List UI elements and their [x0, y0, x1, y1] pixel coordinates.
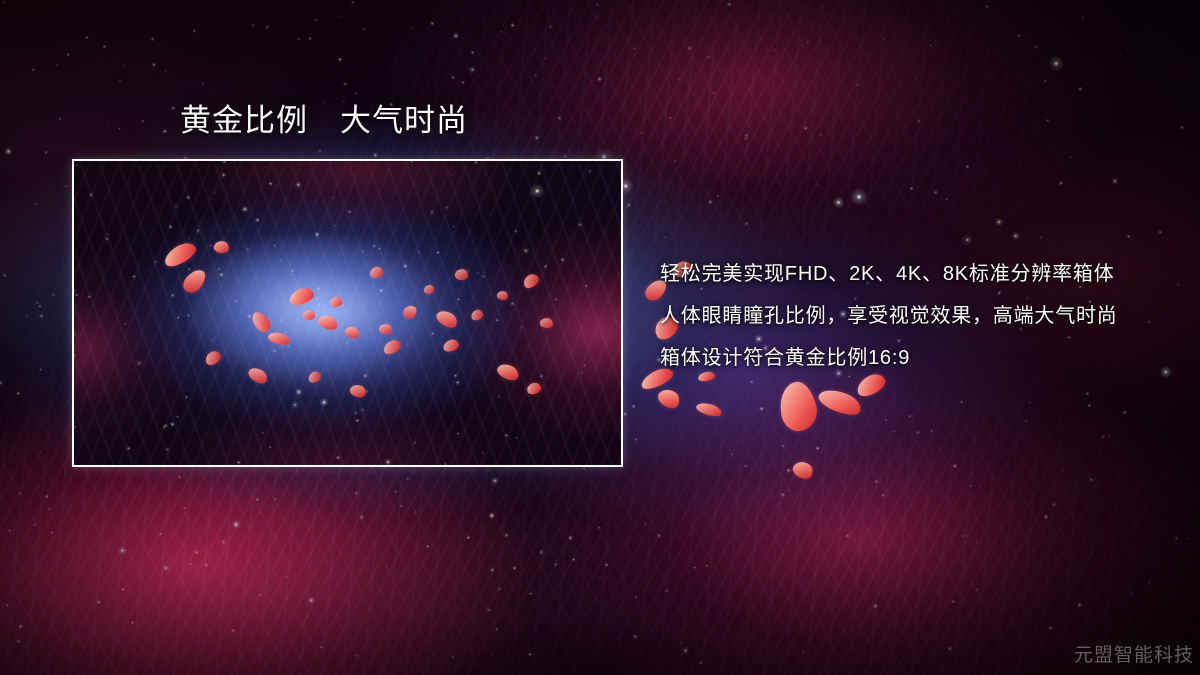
description-text: 轻松完美实现FHD、2K、4K、8K标准分辨率箱体 人体眼睛瞳孔比例，享受视觉效… [660, 258, 1160, 384]
description-line-3: 箱体设计符合黄金比例16:9 [660, 342, 1160, 384]
petal [655, 385, 683, 411]
display-starfield [74, 161, 621, 465]
led-display-frame [72, 159, 623, 467]
description-line-2: 人体眼睛瞳孔比例，享受视觉效果，高端大气时尚 [660, 300, 1160, 342]
petal [790, 458, 815, 482]
petal [816, 384, 864, 419]
petal [775, 379, 820, 434]
slide-canvas: 黄金比例 大气时尚 轻松完美实现FHD、2K、4K、8K标准分辨率箱体 人体眼睛… [0, 0, 1200, 675]
description-line-1: 轻松完美实现FHD、2K、4K、8K标准分辨率箱体 [660, 258, 1160, 300]
page-title: 黄金比例 大气时尚 [180, 102, 468, 141]
watermark-text: 元盟智能科技 [1074, 640, 1194, 667]
petal [695, 400, 723, 418]
